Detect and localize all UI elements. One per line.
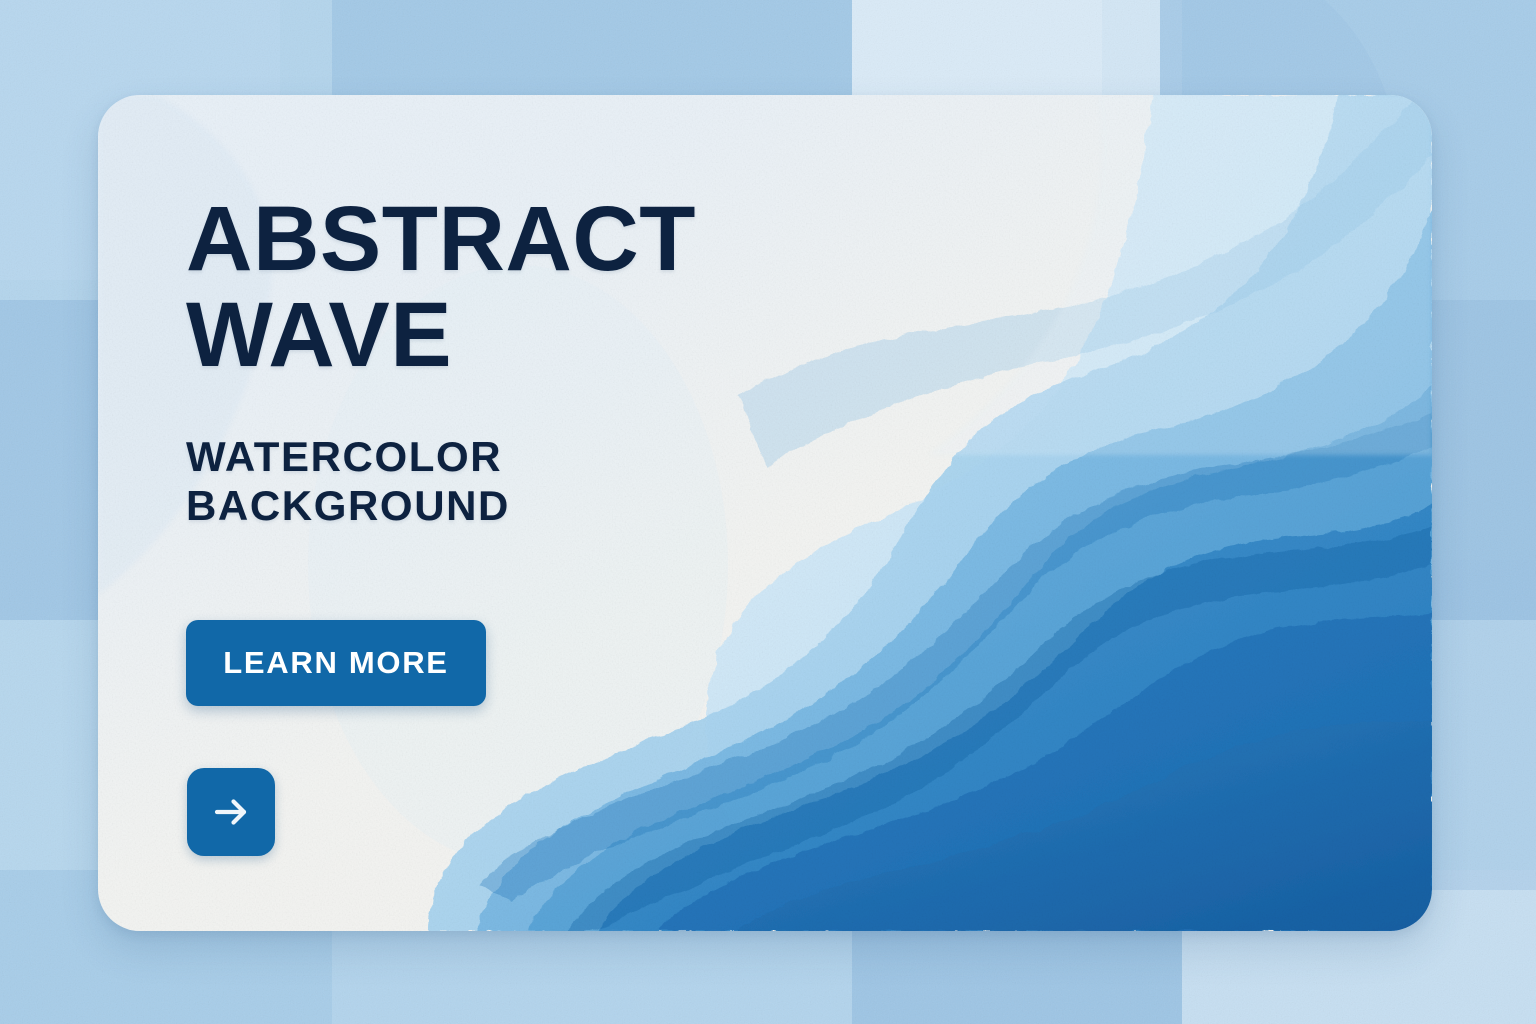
- subheadline-line-1: WATERCOLOR: [186, 432, 806, 482]
- headline-block: ABSTRACT WAVE WATERCOLOR BACKGROUND: [186, 195, 806, 531]
- headline-line-1: ABSTRACT: [186, 195, 806, 283]
- learn-more-button[interactable]: LEARN MORE: [186, 620, 486, 706]
- subheadline-block: WATERCOLOR BACKGROUND: [186, 432, 806, 531]
- headline-line-2: WAVE: [186, 291, 806, 379]
- learn-more-label: LEARN MORE: [223, 645, 448, 681]
- banner-card: ABSTRACT WAVE WATERCOLOR BACKGROUND LEAR…: [98, 95, 1432, 931]
- arrow-next-button[interactable]: [187, 768, 275, 856]
- arrow-right-icon: [208, 789, 254, 835]
- subheadline-line-2: BACKGROUND: [186, 481, 806, 531]
